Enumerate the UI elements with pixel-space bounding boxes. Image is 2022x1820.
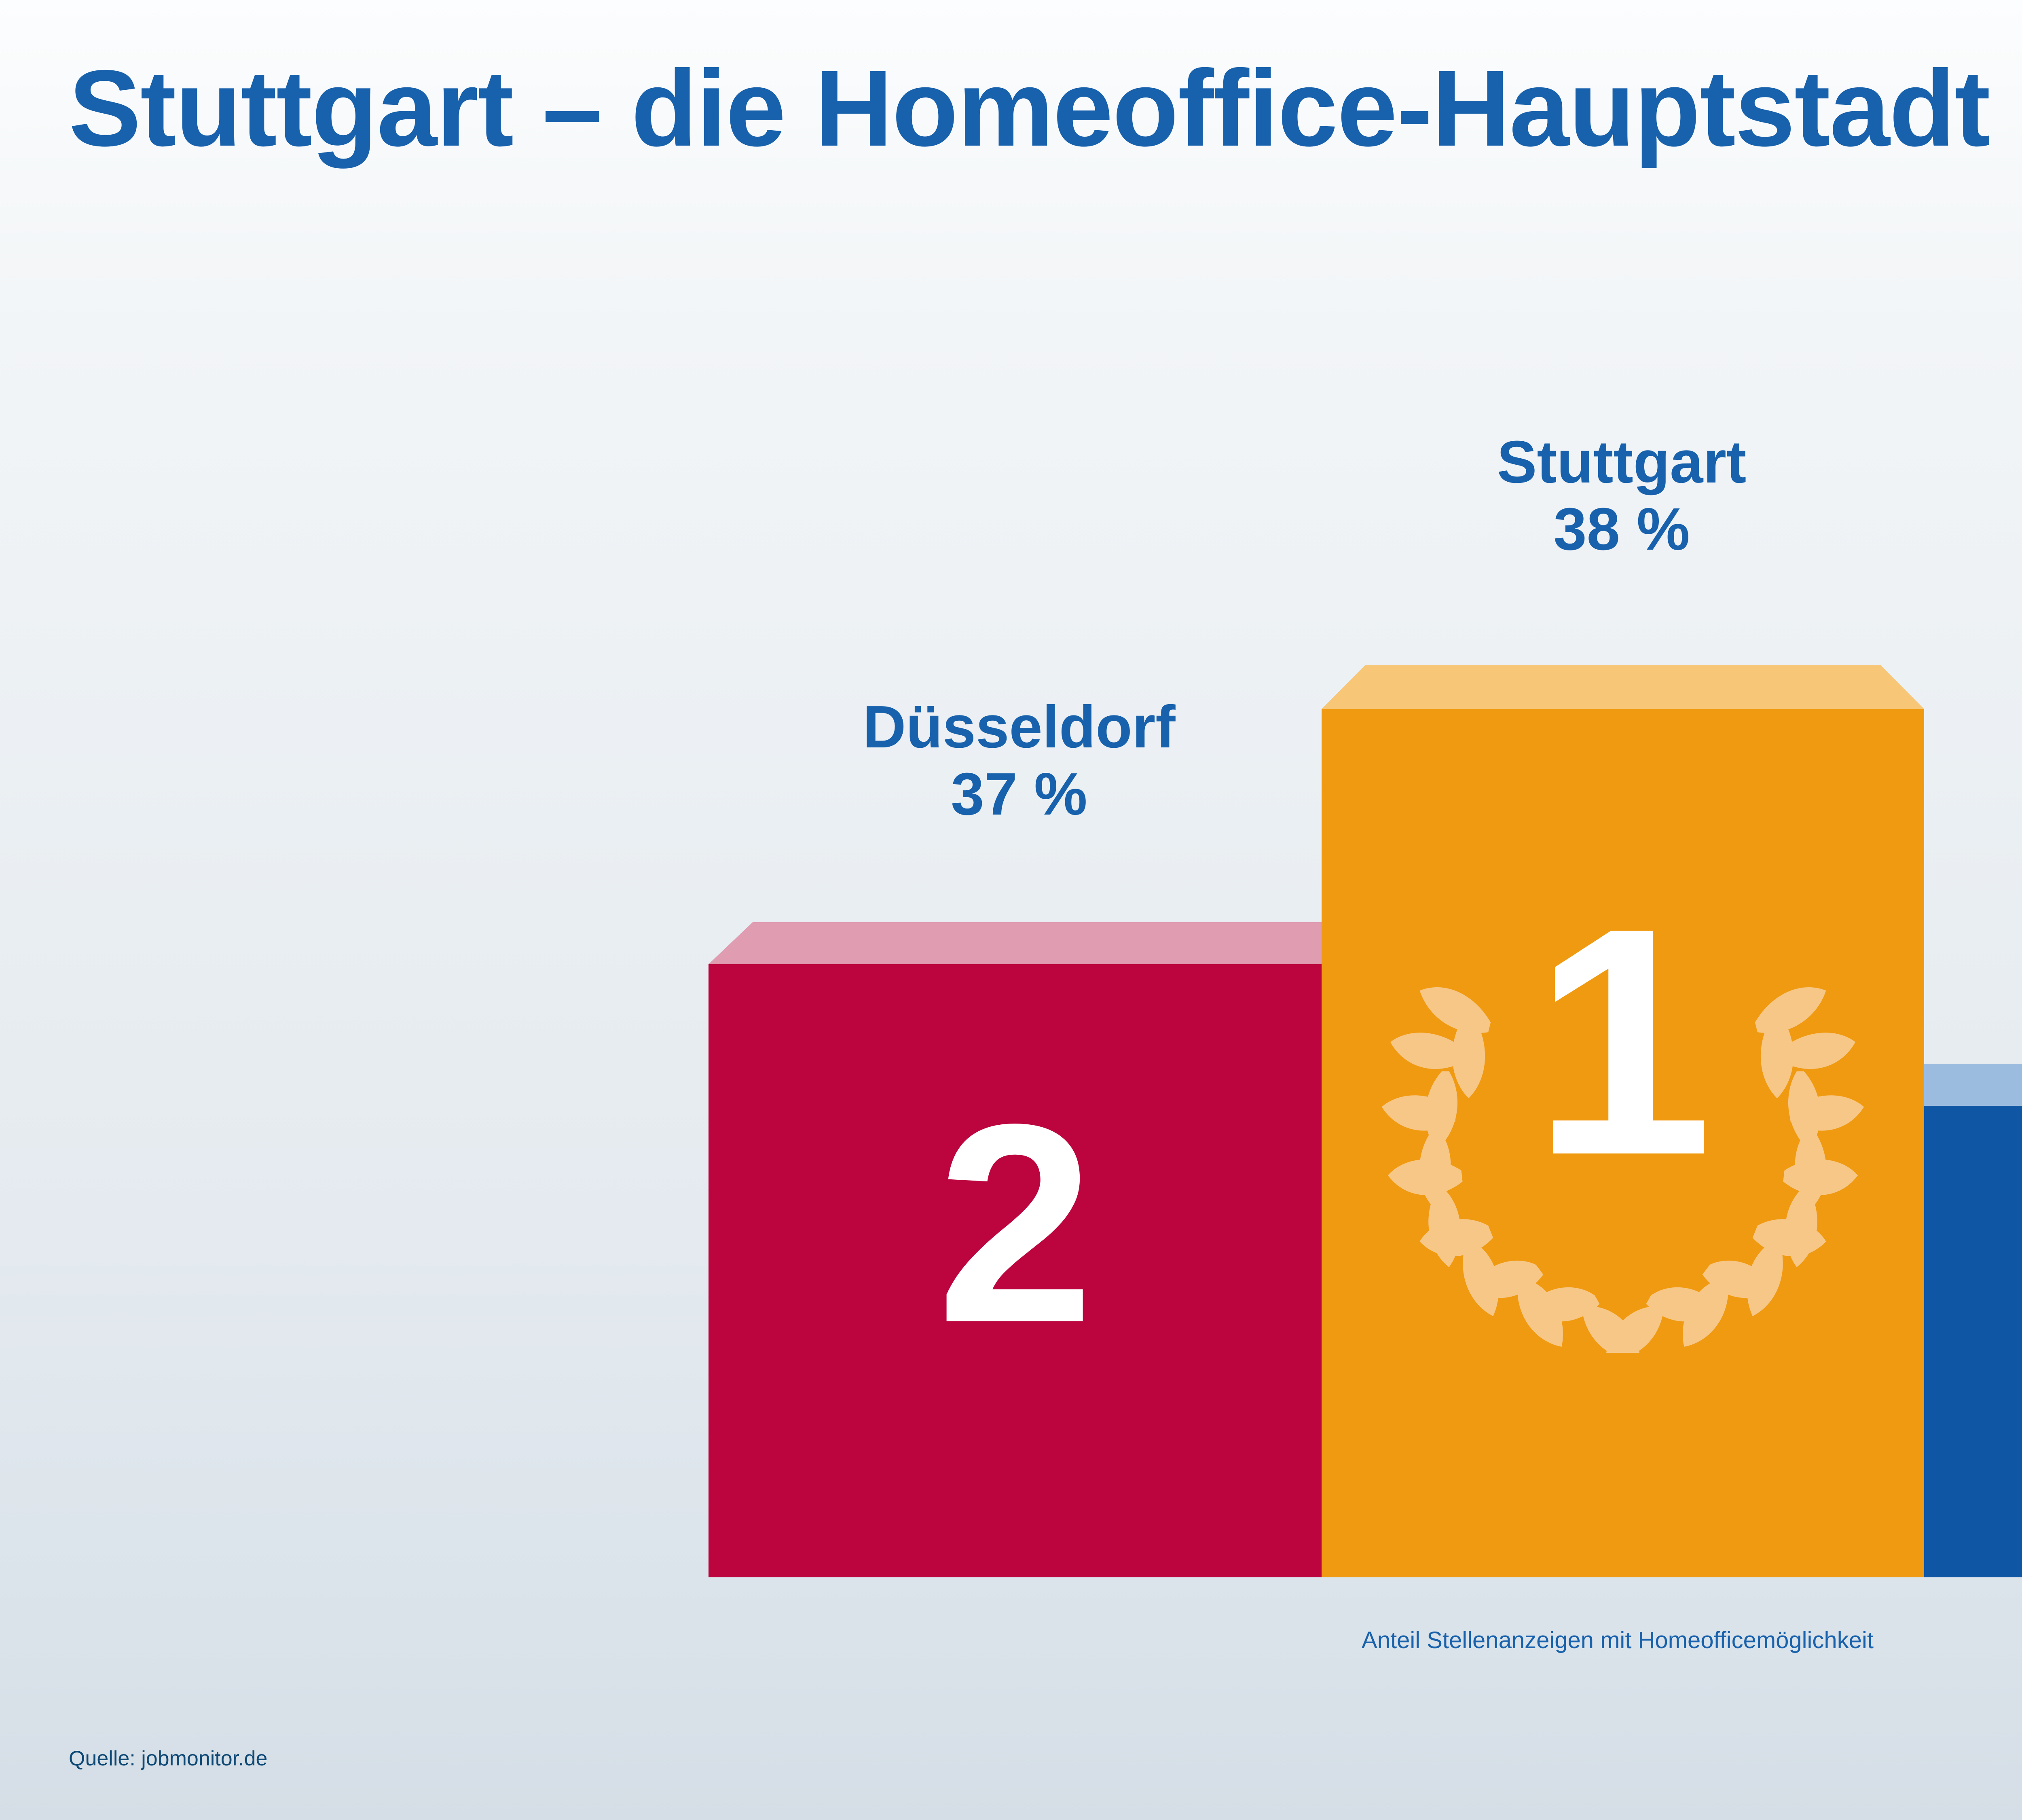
rank-number-2: 2 <box>709 1082 1322 1365</box>
city-label-dusseldorf: Düsseldorf 37 % <box>712 694 1326 828</box>
podium-top-face-second <box>709 922 1322 964</box>
podium-block-third-place: 3 <box>1924 1064 2022 1577</box>
podium-stage: 2 3 <box>0 0 2022 1820</box>
city-percent-stuttgart: 38 % <box>1274 496 1969 563</box>
city-name-stuttgart: Stuttgart <box>1497 429 1747 495</box>
city-percent-frankfurt: 36 % <box>1957 856 2022 923</box>
city-name-dusseldorf: Düsseldorf <box>863 694 1175 760</box>
podium-top-face-first <box>1322 665 1924 709</box>
chart-caption: Anteil Stellenanzeigen mit Homeofficemög… <box>0 1627 2022 1654</box>
rank-number-1: 1 <box>1322 880 1924 1203</box>
podium-block-second-place: 2 <box>709 922 1322 1577</box>
source-note: Quelle: jobmonitor.de <box>69 1746 267 1771</box>
city-label-frankfurt: Frankfurt am Main 36 % <box>1957 722 2022 923</box>
podium-block-first-place: 1 <box>1322 665 1924 1577</box>
city-percent-dusseldorf: 37 % <box>712 761 1326 828</box>
city-label-stuttgart: Stuttgart 38 % <box>1274 429 1969 563</box>
podium-top-face-third <box>1924 1064 2022 1106</box>
rank-number-3: 3 <box>1924 1151 2022 1434</box>
